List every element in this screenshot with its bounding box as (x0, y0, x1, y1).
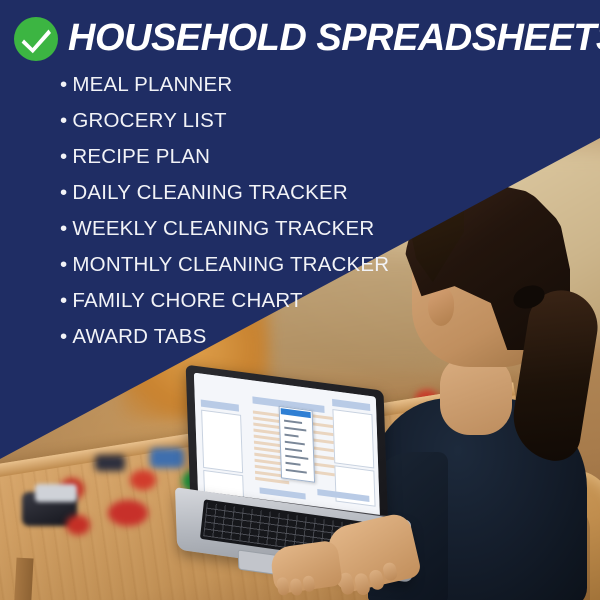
page-title: HOUSEHOLD SPREADSHEETS (68, 14, 600, 62)
woman-neck (440, 355, 512, 435)
list-item-label: MONTHLY CLEANING TRACKER (72, 253, 389, 276)
list-item-label: DAILY CLEANING TRACKER (72, 181, 348, 204)
green-check-circle-icon (13, 16, 59, 62)
dropdown-menu[interactable] (279, 406, 315, 483)
table-leg (13, 558, 33, 600)
list-item: •WEEKLY CLEANING TRACKER (60, 211, 389, 247)
toy-block (66, 515, 90, 535)
list-item: •FAMILY CHORE CHART (60, 283, 389, 319)
promo-graphic: HOUSEHOLD SPREADSHEETS •MEAL PLANNER •GR… (0, 0, 600, 600)
toy-block (95, 455, 125, 471)
list-item: •GROCERY LIST (60, 103, 389, 139)
list-item-label: AWARD TABS (72, 325, 206, 348)
toy-block (150, 448, 184, 468)
toy-block (108, 500, 148, 526)
list-item-label: GROCERY LIST (72, 109, 226, 132)
toy-block (130, 470, 156, 490)
bullet-icon: • (60, 103, 67, 139)
bullet-icon: • (60, 283, 67, 319)
bullet-icon: • (60, 247, 67, 283)
list-item: •MEAL PLANNER (60, 67, 389, 103)
feature-list: •MEAL PLANNER •GROCERY LIST •RECIPE PLAN… (60, 67, 389, 355)
bullet-icon: • (60, 139, 67, 175)
list-item: •AWARD TABS (60, 319, 389, 355)
bullet-icon: • (60, 319, 67, 355)
list-item-label: RECIPE PLAN (72, 145, 210, 168)
list-item: •MONTHLY CLEANING TRACKER (60, 247, 389, 283)
toy-object (35, 484, 77, 502)
bullet-icon: • (60, 175, 67, 211)
bullet-icon: • (60, 211, 67, 247)
list-item: •RECIPE PLAN (60, 139, 389, 175)
list-item-label: WEEKLY CLEANING TRACKER (72, 217, 374, 240)
list-item-label: MEAL PLANNER (72, 73, 232, 96)
woman-ear (428, 288, 454, 326)
list-item-label: FAMILY CHORE CHART (72, 289, 302, 312)
list-item: •DAILY CLEANING TRACKER (60, 175, 389, 211)
bullet-icon: • (60, 67, 67, 103)
